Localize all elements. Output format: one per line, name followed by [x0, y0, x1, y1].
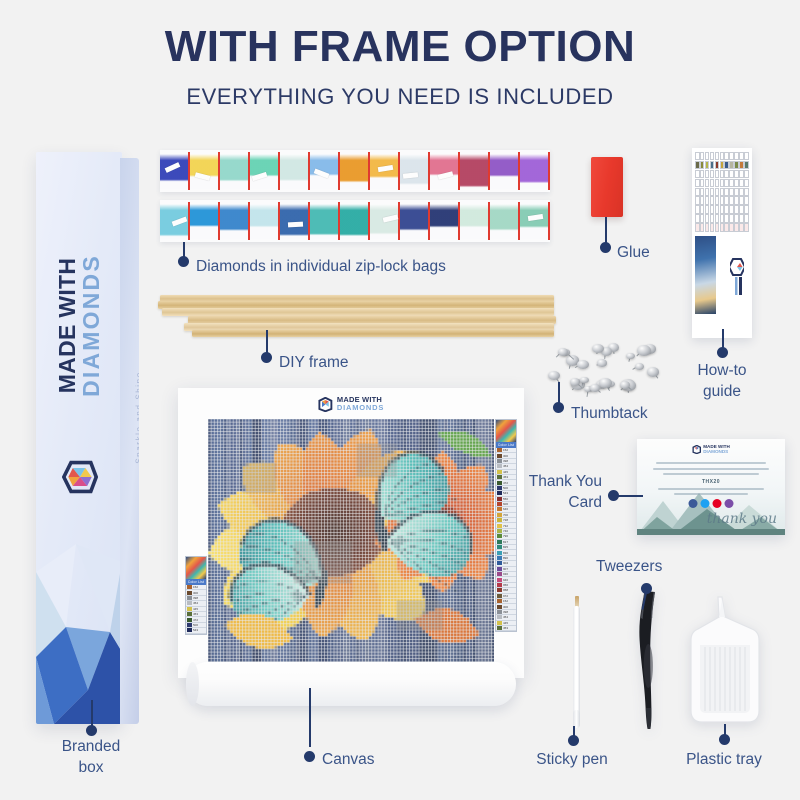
legend-swatch — [497, 610, 502, 614]
thumbtack-head — [592, 344, 604, 353]
canvas-roll — [186, 662, 516, 706]
glue-item — [591, 157, 623, 217]
color-chart-cell — [729, 214, 734, 222]
legend-swatch — [497, 454, 502, 458]
legend-swatch — [497, 599, 502, 603]
canvas-logo-line2: DIAMONDS — [337, 404, 384, 412]
legend-swatch — [497, 567, 502, 571]
canvas-item: MADE WITH DIAMONDS Color List15230039845… — [178, 388, 524, 678]
color-chart-cell — [700, 214, 705, 222]
legend-code: 732 — [503, 524, 508, 528]
legend-swatch — [497, 448, 502, 452]
color-chart-cell — [700, 223, 705, 231]
color-legend-right: Color List152300398454445453472500543550… — [495, 419, 517, 632]
color-chart-cell — [695, 196, 700, 204]
box-brand-line1: MADE WITH — [56, 218, 79, 433]
thumbtack-head — [570, 378, 580, 386]
thumbtack-head — [626, 353, 635, 360]
infographic-stage: WITH FRAME OPTION EVERYTHING YOU NEED IS… — [0, 0, 800, 800]
frame-slat — [162, 308, 554, 316]
legend-swatch — [187, 607, 192, 611]
color-legend-left: Color List152300398454445453472500543 — [185, 556, 207, 635]
callout-dot-guide — [717, 347, 728, 358]
callout-dot-frame — [261, 352, 272, 363]
legend-code: 454 — [503, 464, 508, 468]
color-chart-cell — [720, 214, 725, 222]
legend-swatch — [497, 529, 502, 533]
color-chart-cell — [724, 188, 729, 196]
diamond-bags-row — [160, 150, 550, 192]
color-chart-cell — [705, 196, 710, 204]
legend-row: 543 — [186, 628, 206, 633]
diamond-bag — [370, 150, 400, 192]
color-chart-cell — [744, 179, 749, 187]
thumbtack-head — [635, 363, 644, 370]
color-chart-cell — [720, 170, 725, 178]
diamond-bag — [220, 150, 250, 192]
color-chart-cell — [710, 188, 715, 196]
color-chart-cell — [734, 152, 739, 160]
color-chart-cell — [705, 214, 710, 222]
legend-swatch — [497, 551, 502, 555]
callout-label-tweezers: Tweezers — [596, 556, 662, 577]
legend-code: 398 — [193, 596, 198, 600]
canvas-logo: MADE WITH DIAMONDS — [318, 396, 384, 412]
callout-label-diamonds-bags: Diamonds in individual zip-lock bags — [196, 256, 446, 277]
legend-swatch — [497, 561, 502, 565]
guide-photo — [695, 236, 716, 314]
instagram-icon — [725, 499, 734, 508]
legend-code: 728 — [503, 518, 508, 522]
legend-code: 904 — [503, 561, 508, 565]
color-chart-cell — [700, 161, 705, 169]
color-chart-cell — [739, 214, 744, 222]
leader-line-glue — [605, 217, 607, 243]
callout-label-how-to-guide: How-to guide — [673, 360, 771, 402]
color-chart-cell — [734, 214, 739, 222]
color-chart-cell — [739, 196, 744, 204]
legend-code: 398 — [503, 610, 508, 614]
legend-swatch — [187, 591, 192, 595]
color-chart-cell — [744, 205, 749, 213]
color-chart-cell — [715, 205, 720, 213]
diamond-logo-icon — [692, 445, 701, 454]
diamond-bag — [430, 150, 460, 192]
color-chart-cell — [695, 188, 700, 196]
legend-swatch — [497, 524, 502, 528]
sticky-pen-item — [572, 592, 581, 728]
legend-code: 453 — [503, 626, 508, 630]
diamond-bag — [190, 150, 220, 192]
legend-code: 946 — [503, 578, 508, 582]
legend-swatch — [497, 540, 502, 544]
diamond-bag — [220, 200, 250, 242]
legend-swatch — [497, 621, 502, 625]
legend-code: 454 — [193, 601, 198, 605]
color-chart-cell — [705, 188, 710, 196]
diamond-bag — [250, 150, 280, 192]
box-tagline: Sparkle and Shine — [135, 323, 140, 513]
legend-code: 700 — [503, 513, 508, 517]
canvas-logo-text: MADE WITH DIAMONDS — [337, 396, 384, 412]
color-chart-cell — [729, 205, 734, 213]
legend-code: 500 — [193, 623, 198, 627]
color-chart-cell — [695, 170, 700, 178]
thumbtack-head — [647, 367, 659, 376]
legend-swatch — [497, 578, 502, 582]
color-chart-cell — [739, 205, 744, 213]
color-chart-cell — [710, 214, 715, 222]
color-chart-cell — [720, 223, 725, 231]
diamond-bag — [340, 200, 370, 242]
diamond-bag — [520, 200, 550, 242]
legend-code: 817 — [503, 540, 508, 544]
legend-code: 152 — [503, 599, 508, 603]
color-chart-cell — [720, 188, 725, 196]
leader-line-frame — [266, 330, 268, 354]
legend-swatch — [187, 618, 192, 622]
color-chart-cell — [724, 223, 729, 231]
diamond-bag — [160, 150, 190, 192]
legend-swatch — [497, 605, 502, 609]
legend-code: 300 — [503, 454, 508, 458]
callout-dot-tray — [719, 734, 730, 745]
legend-row: 453 — [496, 626, 516, 631]
color-chart-cell — [705, 170, 710, 178]
diamond-bag — [490, 150, 520, 192]
legend-swatch — [497, 626, 502, 630]
canvas-artwork — [208, 419, 494, 664]
color-chart-cell — [729, 188, 734, 196]
legend-thumbnail — [186, 557, 206, 579]
branded-box: MADE WITH DIAMONDS Sparkle and Shine — [36, 152, 144, 730]
diamond-bag — [310, 200, 340, 242]
legend-swatch — [497, 572, 502, 576]
legend-swatch — [497, 459, 502, 463]
thumbtack-head — [599, 378, 612, 388]
legend-swatch — [187, 601, 192, 605]
color-chart-cell — [739, 223, 744, 231]
thumbtack-head — [548, 371, 560, 380]
legend-swatch — [187, 623, 192, 627]
callout-dot-diamonds — [178, 256, 189, 267]
legend-code: 907 — [503, 567, 508, 571]
color-chart-cell — [729, 170, 734, 178]
legend-swatch — [497, 588, 502, 592]
diamond-bag — [430, 200, 460, 242]
legend-code: 890 — [503, 556, 508, 560]
diamond-bag — [520, 150, 550, 192]
legend-code: 956 — [503, 583, 508, 587]
thumbtack-head — [590, 384, 601, 392]
diamond-logo-icon — [62, 459, 98, 495]
diamond-bag — [310, 150, 340, 192]
legend-code: 796 — [503, 534, 508, 538]
legend-swatch — [497, 545, 502, 549]
callout-label-thank-you-card: Thank You Card — [498, 471, 602, 513]
color-chart-cell — [710, 205, 715, 213]
color-chart-cell — [734, 170, 739, 178]
thumbtack-head — [597, 359, 606, 366]
card-social-icons — [689, 499, 734, 508]
legend-code: 152 — [193, 585, 198, 589]
color-chart-cell — [695, 214, 700, 222]
color-chart-cell — [705, 161, 710, 169]
color-chart-cell — [724, 214, 729, 222]
legend-title: Color List — [186, 579, 206, 585]
callout-label-branded-box: Branded box — [41, 736, 141, 778]
thumbtack-pile — [548, 342, 678, 402]
legend-swatch — [187, 585, 192, 589]
color-chart-cell — [744, 223, 749, 231]
card-message: THX20 — [651, 462, 771, 499]
leader-line-thumbtack — [558, 382, 560, 404]
legend-swatch — [497, 615, 502, 619]
diy-frame-item — [158, 295, 556, 349]
color-chart-cell — [734, 188, 739, 196]
color-chart-cell — [744, 152, 749, 160]
callout-label-thumbtack: Thumbtack — [571, 403, 648, 424]
color-chart-cell — [710, 161, 715, 169]
legend-code: 740 — [503, 529, 508, 533]
color-chart-cell — [739, 179, 744, 187]
color-chart-cell — [729, 152, 734, 160]
color-chart-cell — [739, 170, 744, 178]
color-chart-cell — [729, 196, 734, 204]
color-chart-cell — [744, 188, 749, 196]
color-chart-cell — [700, 205, 705, 213]
color-chart-cell — [700, 152, 705, 160]
legend-swatch — [187, 596, 192, 600]
color-chart-cell — [695, 205, 700, 213]
color-chart-cell — [744, 214, 749, 222]
color-chart-cell — [700, 179, 705, 187]
leader-line-canvas — [309, 688, 311, 747]
legend-swatch — [497, 513, 502, 517]
color-chart-cell — [705, 152, 710, 160]
color-chart-cell — [720, 161, 725, 169]
legend-thumbnail — [496, 420, 516, 442]
color-chart-cell — [710, 179, 715, 187]
diamond-bag — [190, 200, 220, 242]
guide-logo-icon — [730, 252, 744, 296]
color-chart-cell — [734, 223, 739, 231]
diamond-bag — [490, 200, 520, 242]
plastic-tray-icon — [688, 595, 762, 725]
legend-code: 830 — [503, 551, 508, 555]
pinterest-icon — [713, 499, 722, 508]
color-chart-cell — [715, 170, 720, 178]
color-chart-cell — [715, 161, 720, 169]
tweezers-icon — [630, 588, 666, 730]
branded-box-spine: Sparkle and Shine — [120, 158, 139, 724]
legend-code: 972 — [503, 594, 508, 598]
diamond-bag — [340, 150, 370, 192]
card-thank-you-script: thank you — [707, 513, 777, 525]
callout-dot-canvas — [304, 751, 315, 762]
diamond-bag — [370, 200, 400, 242]
diamond-bags-row — [160, 200, 550, 242]
color-chart-cell — [710, 152, 715, 160]
color-chart-cell — [739, 161, 744, 169]
color-chart-cell — [705, 179, 710, 187]
color-chart-table — [695, 152, 749, 232]
thumbtack-head — [620, 381, 630, 389]
card-logo-text: MADE WITH DIAMONDS — [703, 444, 730, 454]
box-brand-line2: DIAMONDS — [79, 218, 103, 433]
leader-line-guide — [722, 329, 724, 349]
color-chart-cell — [720, 152, 725, 160]
pen-body — [573, 606, 580, 714]
color-chart-cell — [695, 161, 700, 169]
legend-swatch — [187, 612, 192, 616]
legend-swatch — [497, 594, 502, 598]
color-chart-cell — [715, 188, 720, 196]
color-chart-cell — [695, 179, 700, 187]
diamond-bag — [460, 200, 490, 242]
color-chart-cell — [729, 179, 734, 187]
legend-code: 300 — [193, 591, 198, 595]
color-chart-cell — [724, 179, 729, 187]
legend-code: 543 — [193, 628, 198, 632]
color-chart-cell — [710, 170, 715, 178]
legend-swatch — [497, 518, 502, 522]
legend-swatch — [497, 534, 502, 538]
color-chart-cell — [739, 152, 744, 160]
color-chart-cell — [705, 205, 710, 213]
legend-code: 825 — [503, 545, 508, 549]
color-chart-cell — [739, 188, 744, 196]
legend-title: Color List — [496, 442, 516, 448]
legend-code: 445 — [503, 621, 508, 625]
color-chart-cell — [734, 196, 739, 204]
leader-line-thankyou — [617, 495, 643, 497]
page-title: WITH FRAME OPTION — [0, 22, 800, 72]
color-chart-cell — [729, 223, 734, 231]
thumbtack-head — [577, 360, 590, 370]
diamond-bag — [160, 200, 190, 242]
color-chart-cell — [734, 161, 739, 169]
diamond-bag — [400, 200, 430, 242]
color-chart-cell — [700, 170, 705, 178]
callout-dot-box — [86, 725, 97, 736]
legend-code: 472 — [193, 618, 198, 622]
legend-swatch — [187, 628, 192, 632]
color-chart-cell — [734, 205, 739, 213]
diamond-logo-icon — [318, 397, 333, 412]
diamond-bag — [280, 200, 310, 242]
color-chart-cell — [724, 205, 729, 213]
bag-label — [288, 222, 303, 228]
diamond-bag — [460, 150, 490, 192]
twitter-icon — [701, 499, 710, 508]
color-chart-cell — [710, 223, 715, 231]
thank-you-card-item: MADE WITH DIAMONDS THX20 thank you — [637, 439, 785, 535]
frame-slat — [192, 330, 554, 337]
legend-code: 152 — [503, 448, 508, 452]
callout-label-sticky-pen: Sticky pen — [527, 749, 617, 770]
callout-dot-thankyou — [608, 490, 619, 501]
callout-dot-pen — [568, 735, 579, 746]
callout-label-glue: Glue — [617, 242, 650, 263]
callout-dot-tweezers — [641, 583, 652, 594]
diamond-bag — [250, 200, 280, 242]
color-chart-cell — [724, 161, 729, 169]
leader-line-box — [91, 700, 93, 727]
legend-code: 300 — [503, 605, 508, 609]
branded-box-face: MADE WITH DIAMONDS — [36, 152, 122, 724]
how-to-guide-item — [692, 148, 752, 338]
color-chart-cell — [734, 179, 739, 187]
thumbtack-head — [580, 377, 589, 384]
callout-dot-glue — [600, 242, 611, 253]
box-brand-text: MADE WITH DIAMONDS — [56, 218, 103, 433]
color-chart-cell — [720, 179, 725, 187]
color-chart-cell — [715, 179, 720, 187]
callout-label-canvas: Canvas — [322, 749, 375, 770]
card-discount-code: THX20 — [651, 479, 771, 485]
color-chart-cell — [715, 196, 720, 204]
color-chart-cell — [695, 223, 700, 231]
color-chart-cell — [724, 170, 729, 178]
diamond-bag — [400, 150, 430, 192]
color-chart-cell — [724, 196, 729, 204]
color-chart-cell — [700, 196, 705, 204]
legend-code: 398 — [503, 459, 508, 463]
facebook-icon — [689, 499, 698, 508]
callout-label-plastic-tray: Plastic tray — [672, 749, 776, 770]
thumbtack-head — [637, 345, 651, 356]
color-chart-cell — [720, 196, 725, 204]
legend-swatch — [497, 583, 502, 587]
color-chart-cell — [700, 188, 705, 196]
color-chart-cell — [715, 214, 720, 222]
diamond-bag — [280, 150, 310, 192]
color-chart-cell — [744, 161, 749, 169]
color-chart-cell — [695, 152, 700, 160]
legend-code: 453 — [193, 612, 198, 616]
color-chart-cell — [715, 152, 720, 160]
legend-swatch — [497, 556, 502, 560]
color-chart-cell — [705, 223, 710, 231]
card-logo-line2: DIAMONDS — [703, 449, 730, 454]
legend-swatch — [497, 464, 502, 468]
callout-label-diy-frame: DIY frame — [279, 352, 349, 373]
legend-code: 445 — [193, 607, 198, 611]
page-subtitle: EVERYTHING YOU NEED IS INCLUDED — [0, 84, 800, 110]
legend-code: 454 — [503, 615, 508, 619]
color-chart-cell — [724, 152, 729, 160]
color-chart-cell — [710, 196, 715, 204]
color-chart-cell — [715, 223, 720, 231]
color-chart-cell — [720, 205, 725, 213]
legend-code: 958 — [503, 588, 508, 592]
legend-code: 930 — [503, 572, 508, 576]
color-chart-cell — [744, 170, 749, 178]
card-logo: MADE WITH DIAMONDS — [692, 444, 730, 454]
callout-dot-thumbtack — [553, 402, 564, 413]
color-chart-cell — [744, 196, 749, 204]
diamond-bags-group — [160, 150, 550, 242]
color-chart-cell — [729, 161, 734, 169]
